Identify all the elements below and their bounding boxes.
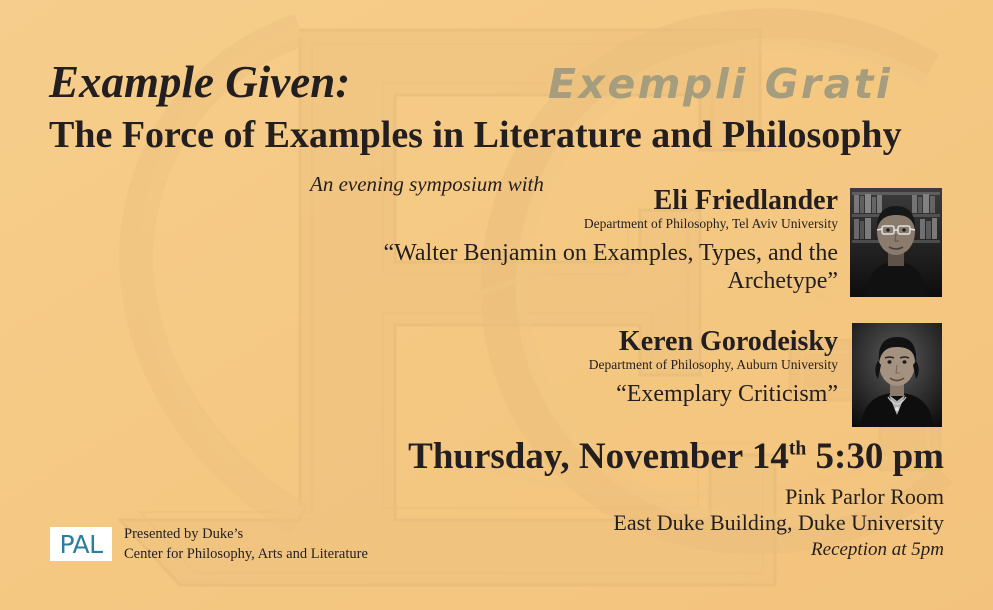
presenter-line-2: Center for Philosophy, Arts and Literatu… <box>124 544 368 564</box>
event-day-suffix: th <box>789 439 806 460</box>
page-title: Example Given: <box>49 60 350 105</box>
pal-logo-text: PAL <box>59 532 102 557</box>
presenter-credit: Presented by Duke’s Center for Philosoph… <box>124 524 368 564</box>
venue-room: Pink Parlor Room <box>0 486 944 508</box>
speaker-block-2: Keren Gorodeisky Department of Philosoph… <box>380 327 838 408</box>
speaker-affiliation: Department of Philosophy, Tel Aviv Unive… <box>330 216 838 232</box>
speaker-block-1: Eli Friedlander Department of Philosophy… <box>330 186 838 295</box>
pal-logo: PAL <box>50 527 112 561</box>
poster-footer: PAL Presented by Duke’s Center for Philo… <box>50 524 368 564</box>
event-day: Thursday, November 14 <box>408 436 789 477</box>
page-subtitle: The Force of Examples in Literature and … <box>49 116 902 154</box>
speaker-talk-title: “Exemplary Criticism” <box>380 380 838 408</box>
latin-tagline: Exempli Grati <box>548 60 892 108</box>
speaker-portrait-2 <box>852 323 942 427</box>
presenter-line-1: Presented by Duke’s <box>124 524 368 544</box>
speaker-affiliation: Department of Philosophy, Auburn Univers… <box>380 357 838 373</box>
event-datetime: Thursday, November 14th 5:30 pm <box>0 438 944 475</box>
speaker-name: Keren Gorodeisky <box>380 327 838 356</box>
event-poster: Exempli Grati Example Given: The Force o… <box>0 0 993 610</box>
speaker-portrait-1 <box>850 188 942 297</box>
speaker-name: Eli Friedlander <box>330 186 838 215</box>
event-time: 5:30 pm <box>816 436 944 477</box>
speaker-talk-title: “Walter Benjamin on Examples, Types, and… <box>330 239 838 296</box>
